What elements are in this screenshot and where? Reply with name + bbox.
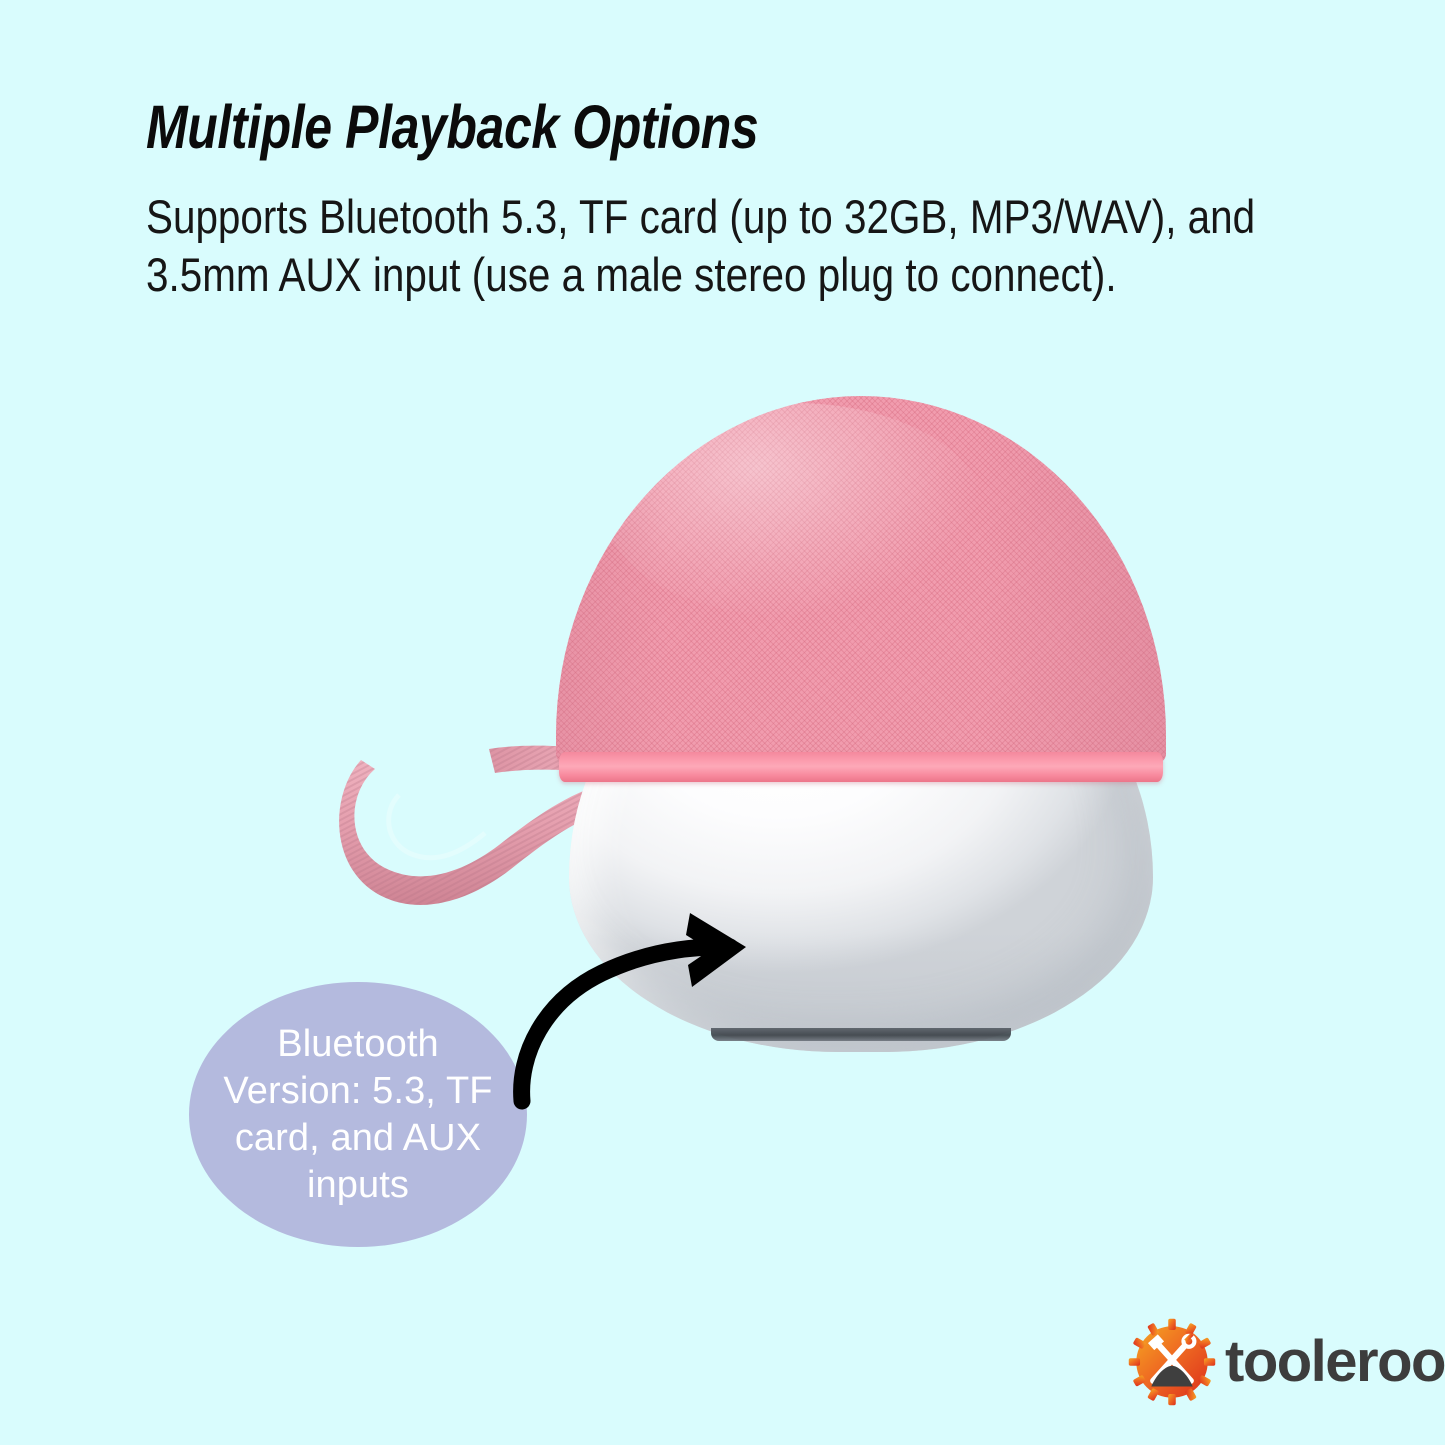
subtitle-line-1: Supports Bluetooth 5.3, TF card (up to 3… — [146, 188, 1264, 246]
subtitle-line-2: 3.5mm AUX input (use a male stereo plug … — [146, 246, 1264, 304]
logo-wordmark: tooleroo® — [1225, 1333, 1445, 1391]
marketing-banner: Multiple Playback Options Supports Bluet… — [0, 0, 1445, 1445]
logo-wordmark-text: tooleroo — [1225, 1329, 1445, 1394]
product-image-speaker: AUX Type-c TF — [521, 396, 1201, 1056]
speaker-accent-band — [559, 752, 1163, 782]
speaker-mesh-dome — [556, 396, 1166, 764]
callout-text: Bluetooth Version: 5.3, TF card, and AUX… — [189, 1021, 527, 1209]
brand-logo: tooleroo® — [1125, 1313, 1443, 1411]
speaker-base-pad — [711, 1028, 1011, 1041]
page-title: Multiple Playback Options — [146, 97, 1114, 158]
callout-bubble: Bluetooth Version: 5.3, TF card, and AUX… — [189, 982, 527, 1247]
subtitle-paragraph: Supports Bluetooth 5.3, TF card (up to 3… — [146, 188, 1264, 304]
tooleroo-gear-icon — [1125, 1315, 1219, 1409]
